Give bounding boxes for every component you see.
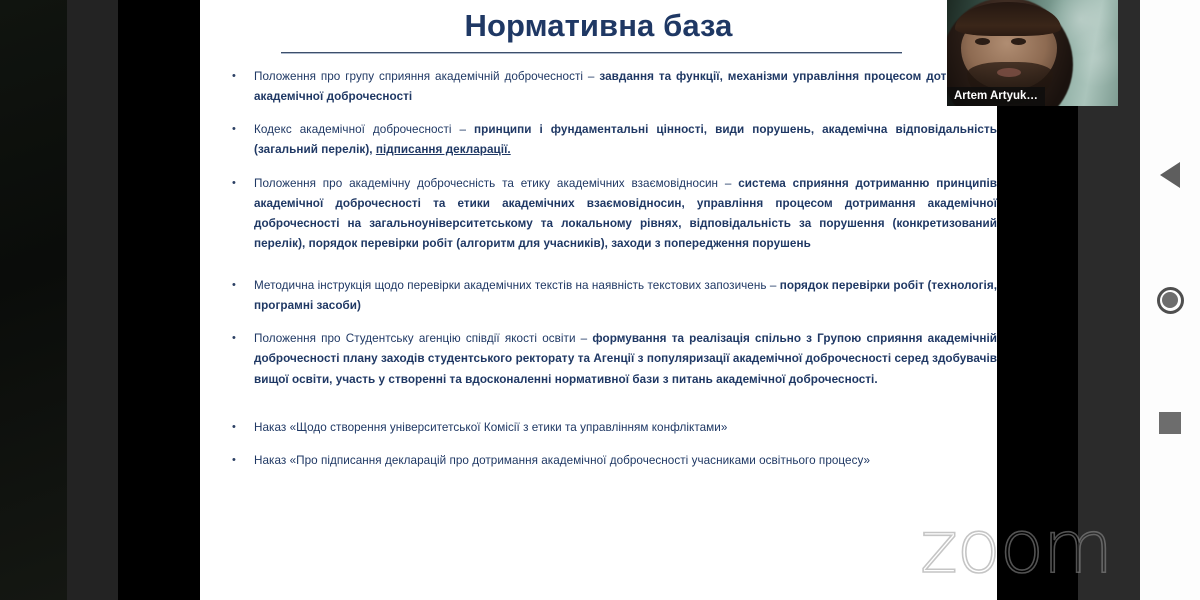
bullet-text-span: підписання декларації. xyxy=(376,143,511,156)
bullet-polozhennia-hrupa-spryiannia: Положення про групу сприяння академічній… xyxy=(214,67,997,107)
bullet-nakaz-pidpysannia-deklaratsii: Наказ «Про підписання декларацій про дот… xyxy=(214,451,997,471)
bullet-text-span: Положення про академічну доброчесність т… xyxy=(254,177,738,190)
bullet-text-span: Наказ «Про підписання декларацій про дот… xyxy=(254,454,870,467)
bullet-text-span: Положення про Студентську агенцію співді… xyxy=(254,332,592,345)
video-person-eye-left xyxy=(975,38,990,45)
bullet-nakaz-komisiia-z-etyky: Наказ «Щодо створення університетської К… xyxy=(214,418,997,438)
zoom-screen-share-viewer: Нормативна база Положення про групу спри… xyxy=(0,0,1200,600)
bullet-metodychna-instruktsiia-perevirky: Методична інструкція щодо перевірки акад… xyxy=(214,276,997,316)
video-person-mouth xyxy=(997,68,1021,77)
stop-button[interactable] xyxy=(1140,403,1200,443)
record-button[interactable] xyxy=(1140,280,1200,320)
bullet-kodeks-akademichnoi-dobrochesnosti: Кодекс академічної доброчесності – принц… xyxy=(214,120,997,160)
shared-slide: Нормативна база Положення про групу спри… xyxy=(200,0,997,600)
bullet-text-span: Положення про групу сприяння академічній… xyxy=(254,70,599,83)
participant-video-tile[interactable]: Artem Artyuk… xyxy=(947,0,1118,106)
bullet-text-span: Наказ «Щодо створення університетської К… xyxy=(254,421,727,434)
slide-title: Нормативна база xyxy=(200,8,997,44)
letterbox-left-mid xyxy=(67,0,118,600)
bullet-text-span: Кодекс академічної доброчесності – xyxy=(254,123,474,136)
bullet-polozhennia-etyka-vzaiemovidnosyn: Положення про академічну доброчесність т… xyxy=(214,174,997,255)
triangle-left-icon xyxy=(1160,162,1180,188)
letterbox-left-inner xyxy=(118,0,200,600)
record-circle-icon xyxy=(1157,287,1184,314)
bullet-text-span: Методична інструкція щодо перевірки акад… xyxy=(254,279,780,292)
stop-square-icon xyxy=(1159,412,1181,434)
video-person-eye-right xyxy=(1011,38,1026,45)
letterbox-left-outer xyxy=(0,0,67,600)
slide-bullet-list: Положення про групу сприяння академічній… xyxy=(214,67,997,484)
control-rail xyxy=(1140,0,1200,600)
previous-slide-button[interactable] xyxy=(1140,155,1200,195)
bullet-polozhennia-studentska-ahentsiia: Положення про Студентську агенцію співді… xyxy=(214,329,997,389)
participant-name-badge: Artem Artyuk… xyxy=(947,87,1045,106)
title-divider xyxy=(281,52,902,53)
